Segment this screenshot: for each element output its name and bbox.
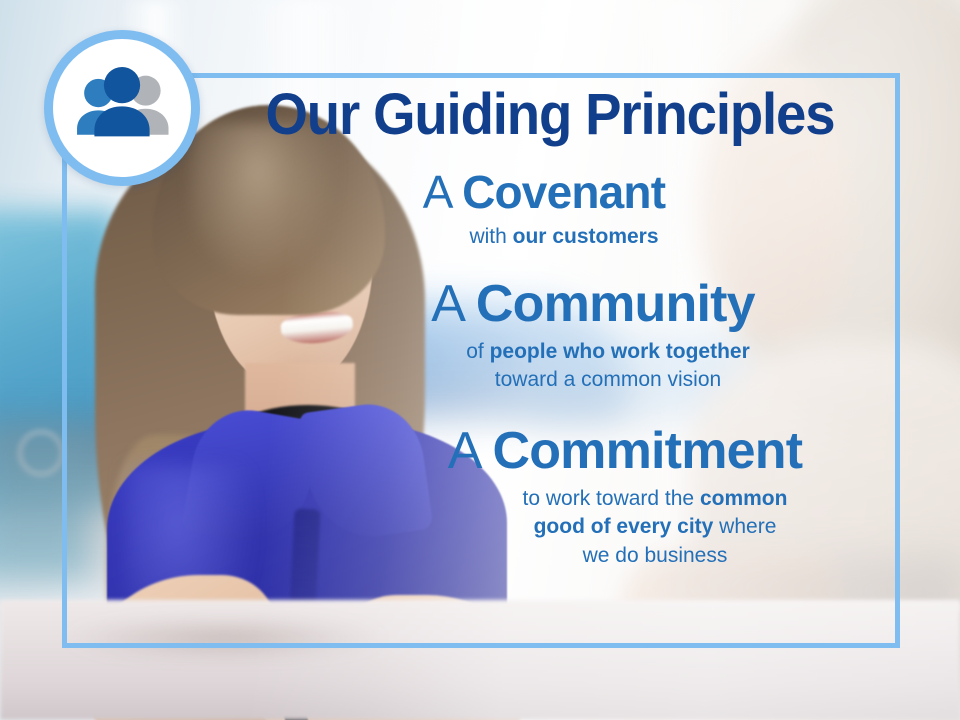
- principle-community-keyword: Community: [476, 275, 755, 333]
- detail-text-bold: people who work together: [490, 340, 750, 363]
- principle-commitment-keyword: Commitment: [492, 422, 802, 480]
- detail-text-regular: of: [466, 340, 489, 363]
- detail-line-2: toward a common vision: [326, 366, 890, 394]
- detail-text-bold: common: [700, 487, 788, 510]
- detail-line-1: of people who work together: [326, 338, 890, 366]
- people-badge: [44, 30, 200, 186]
- page-title: Our Guiding Principles: [230, 86, 869, 144]
- principle-covenant-keyword: Covenant: [462, 166, 665, 218]
- detail-text-bold: good of every city: [534, 515, 714, 538]
- principle-covenant: A Covenant with our customers: [210, 168, 890, 251]
- detail-text-regular: to work toward the: [523, 487, 700, 510]
- principle-covenant-detail: with our customers: [210, 223, 878, 251]
- principles-content: Our Guiding Principles A Covenant with o…: [210, 86, 890, 576]
- principle-commitment: A Commitment to work toward the common g…: [210, 424, 890, 569]
- detail-text-bold: our customers: [513, 225, 659, 248]
- principle-covenant-article: A: [423, 166, 450, 218]
- detail-line-1: to work toward the common: [420, 485, 890, 513]
- principle-community-heading: A Community: [296, 277, 890, 332]
- arm-shadow-on-desk: [60, 618, 390, 658]
- principle-commitment-detail: to work toward the common good of every …: [360, 485, 890, 569]
- principle-commitment-article: A: [448, 422, 479, 480]
- principle-covenant-heading: A Covenant: [210, 168, 878, 217]
- detail-text-regular: where: [719, 515, 776, 538]
- principle-commitment-heading: A Commitment: [360, 424, 890, 479]
- principle-community-detail: of people who work together toward a com…: [296, 338, 890, 394]
- people-group-icon: [71, 67, 173, 149]
- principle-community: A Community of people who work together …: [210, 277, 890, 394]
- detail-text-regular: with: [469, 225, 512, 248]
- detail-line-3: we do business: [420, 542, 890, 570]
- principle-community-article: A: [431, 275, 462, 333]
- detail-line-2: good of every city where: [420, 513, 890, 541]
- banner-canvas: FLOW FLOW AUTOMOTIVE: [0, 0, 960, 720]
